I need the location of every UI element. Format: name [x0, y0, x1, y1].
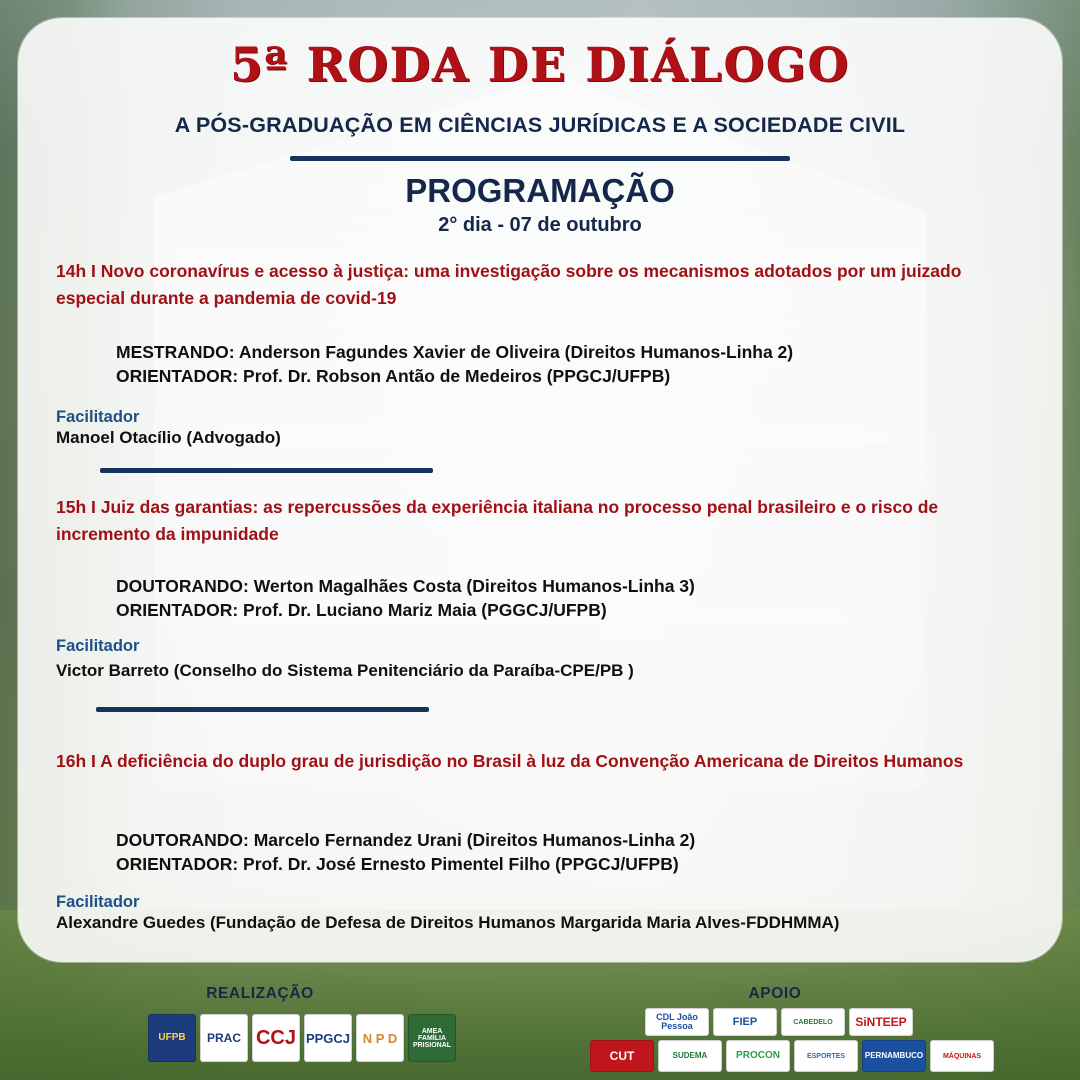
cut-logo: CUT: [590, 1040, 654, 1072]
session-1-advisor: ORIENTADOR: Prof. Dr. Robson Antão de Me…: [116, 366, 1016, 388]
session-2-facilitator-label: Facilitador: [56, 637, 139, 656]
page-subtitle: A PÓS-GRADUAÇÃO EM CIÊNCIAS JURÍDICAS E …: [0, 113, 1080, 138]
prac-logo: PRAC: [200, 1014, 248, 1062]
session-2-facilitator-name: Victor Barreto (Conselho do Sistema Peni…: [56, 661, 1016, 681]
program-day: 2° dia - 07 de outubro: [0, 214, 1080, 237]
session-3-advisor: ORIENTADOR: Prof. Dr. José Ernesto Pimen…: [116, 854, 1016, 876]
session-1-divider: [100, 468, 433, 473]
session-3-student: DOUTORANDO: Marcelo Fernandez Urani (Dir…: [116, 830, 1016, 852]
session-2-title: 15h I Juiz das garantias: as repercussõe…: [56, 494, 966, 548]
amea-familia-prisional-logo: AMEA FAMÍLIA PRISIONAL: [408, 1014, 456, 1062]
poster-content: 5ª RODA DE DIÁLOGO A PÓS-GRADUAÇÃO EM CI…: [0, 0, 1080, 1080]
pernambuco-logo: PERNAMBUCO: [862, 1040, 926, 1072]
sinteep-logo: SiNTEEP: [849, 1008, 913, 1036]
session-1-facilitator-name: Manoel Otacílio (Advogado): [56, 428, 1016, 448]
npd-logo: N P D: [356, 1014, 404, 1062]
session-3-facilitator-label: Facilitador: [56, 893, 139, 912]
cdl-joao-pessoa-logo: CDL João Pessoa: [645, 1008, 709, 1036]
session-1-title: 14h I Novo coronavírus e acesso à justiç…: [56, 258, 966, 312]
fiep-logo: FIEP: [713, 1008, 777, 1036]
sindicato-cabedelo-logo: CABEDELO: [781, 1008, 845, 1036]
apoio-label: APOIO: [660, 985, 890, 1003]
maquinas-logo: MÁQUINAS: [930, 1040, 994, 1072]
procon-logo: PROCON: [726, 1040, 790, 1072]
page-title: 5ª RODA DE DIÁLOGO: [0, 38, 1080, 93]
ppgcj-logo: PPGCJ: [304, 1014, 352, 1062]
program-label: PROGRAMAÇÃO: [0, 172, 1080, 210]
session-2-student: DOUTORANDO: Werton Magalhães Costa (Dire…: [116, 576, 1016, 598]
session-2-divider: [96, 707, 429, 712]
sudema-logo: SUDEMA: [658, 1040, 722, 1072]
session-3-facilitator-name: Alexandre Guedes (Fundação de Defesa de …: [56, 913, 1016, 933]
ccj-logo: CCJ: [252, 1014, 300, 1062]
sindicato-esportes-logo: ESPORTES: [794, 1040, 858, 1072]
ufpb-brasao-logo: UFPB: [148, 1014, 196, 1062]
session-3-title: 16h I A deficiência do duplo grau de jur…: [56, 748, 966, 775]
session-2-advisor: ORIENTADOR: Prof. Dr. Luciano Mariz Maia…: [116, 600, 1016, 622]
header-divider: [290, 156, 790, 161]
session-1-student: MESTRANDO: Anderson Fagundes Xavier de O…: [116, 342, 1016, 364]
realizacao-label: REALIZAÇÃO: [145, 985, 375, 1003]
session-1-facilitator-label: Facilitador: [56, 408, 139, 427]
